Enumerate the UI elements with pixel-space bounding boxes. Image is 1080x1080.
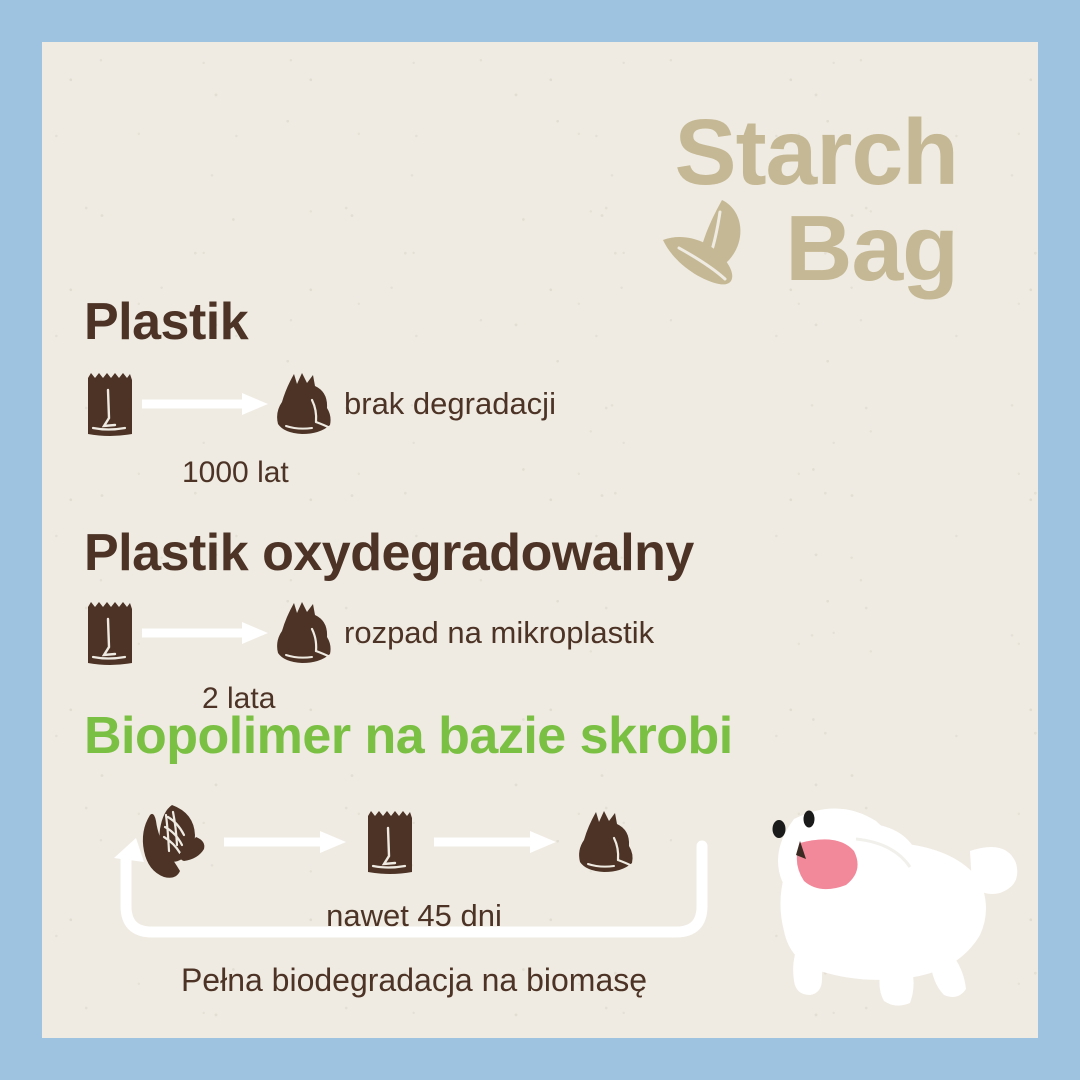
crumpled-bag-icon	[272, 599, 334, 667]
dog-illustration	[734, 789, 1024, 1014]
section-plastic-duration: 1000 lat	[182, 456, 289, 490]
section-biopolymer-result: Pełna biodegradacja na biomasę	[84, 962, 744, 999]
bag-icon	[364, 806, 416, 878]
section-biopolymer-cycle: nawet 45 dni Pełna biodegradacja na biom…	[84, 794, 744, 984]
section-plastic-result: brak degradacji	[344, 386, 556, 422]
section-oxodegradable-result: rozpad na mikroplastik	[344, 615, 654, 651]
section-plastic-title: Plastik	[84, 296, 1038, 348]
section-biopolymer: Biopolimer na bazie skrobi	[42, 710, 1038, 768]
section-plastic-flow: brak degradacji	[84, 368, 1038, 440]
section-oxodegradable: Plastik oxydegradowalny rozp	[42, 527, 1038, 669]
arrow-right-icon	[224, 829, 346, 855]
leaves-icon	[659, 196, 777, 288]
logo-bag-row: Bag	[659, 196, 958, 292]
crumpled-bag-icon	[272, 370, 334, 438]
section-oxodegradable-title: Plastik oxydegradowalny	[84, 527, 1038, 579]
section-oxodegradable-flow: rozpad na mikroplastik	[84, 597, 1038, 669]
section-biopolymer-duration: nawet 45 dni	[84, 898, 744, 934]
brand-logo: Starch Bag	[659, 110, 958, 292]
corn-icon	[132, 803, 206, 881]
bag-icon	[84, 368, 136, 440]
infographic-panel: Starch Bag Plastik	[42, 42, 1038, 1038]
logo-line-bag: Bag	[785, 206, 958, 292]
arrow-right-icon	[142, 620, 268, 646]
section-plastic: Plastik brak degradacji	[42, 296, 1038, 440]
arrow-right-icon	[434, 829, 556, 855]
section-biopolymer-flow	[84, 794, 744, 890]
outer-border: Starch Bag Plastik	[0, 0, 1080, 1080]
bag-icon	[84, 597, 136, 669]
logo-line-starch: Starch	[659, 110, 958, 196]
arrow-right-icon	[142, 391, 268, 417]
section-biopolymer-title: Biopolimer na bazie skrobi	[84, 710, 1038, 762]
crumpled-bag-icon	[574, 808, 636, 876]
